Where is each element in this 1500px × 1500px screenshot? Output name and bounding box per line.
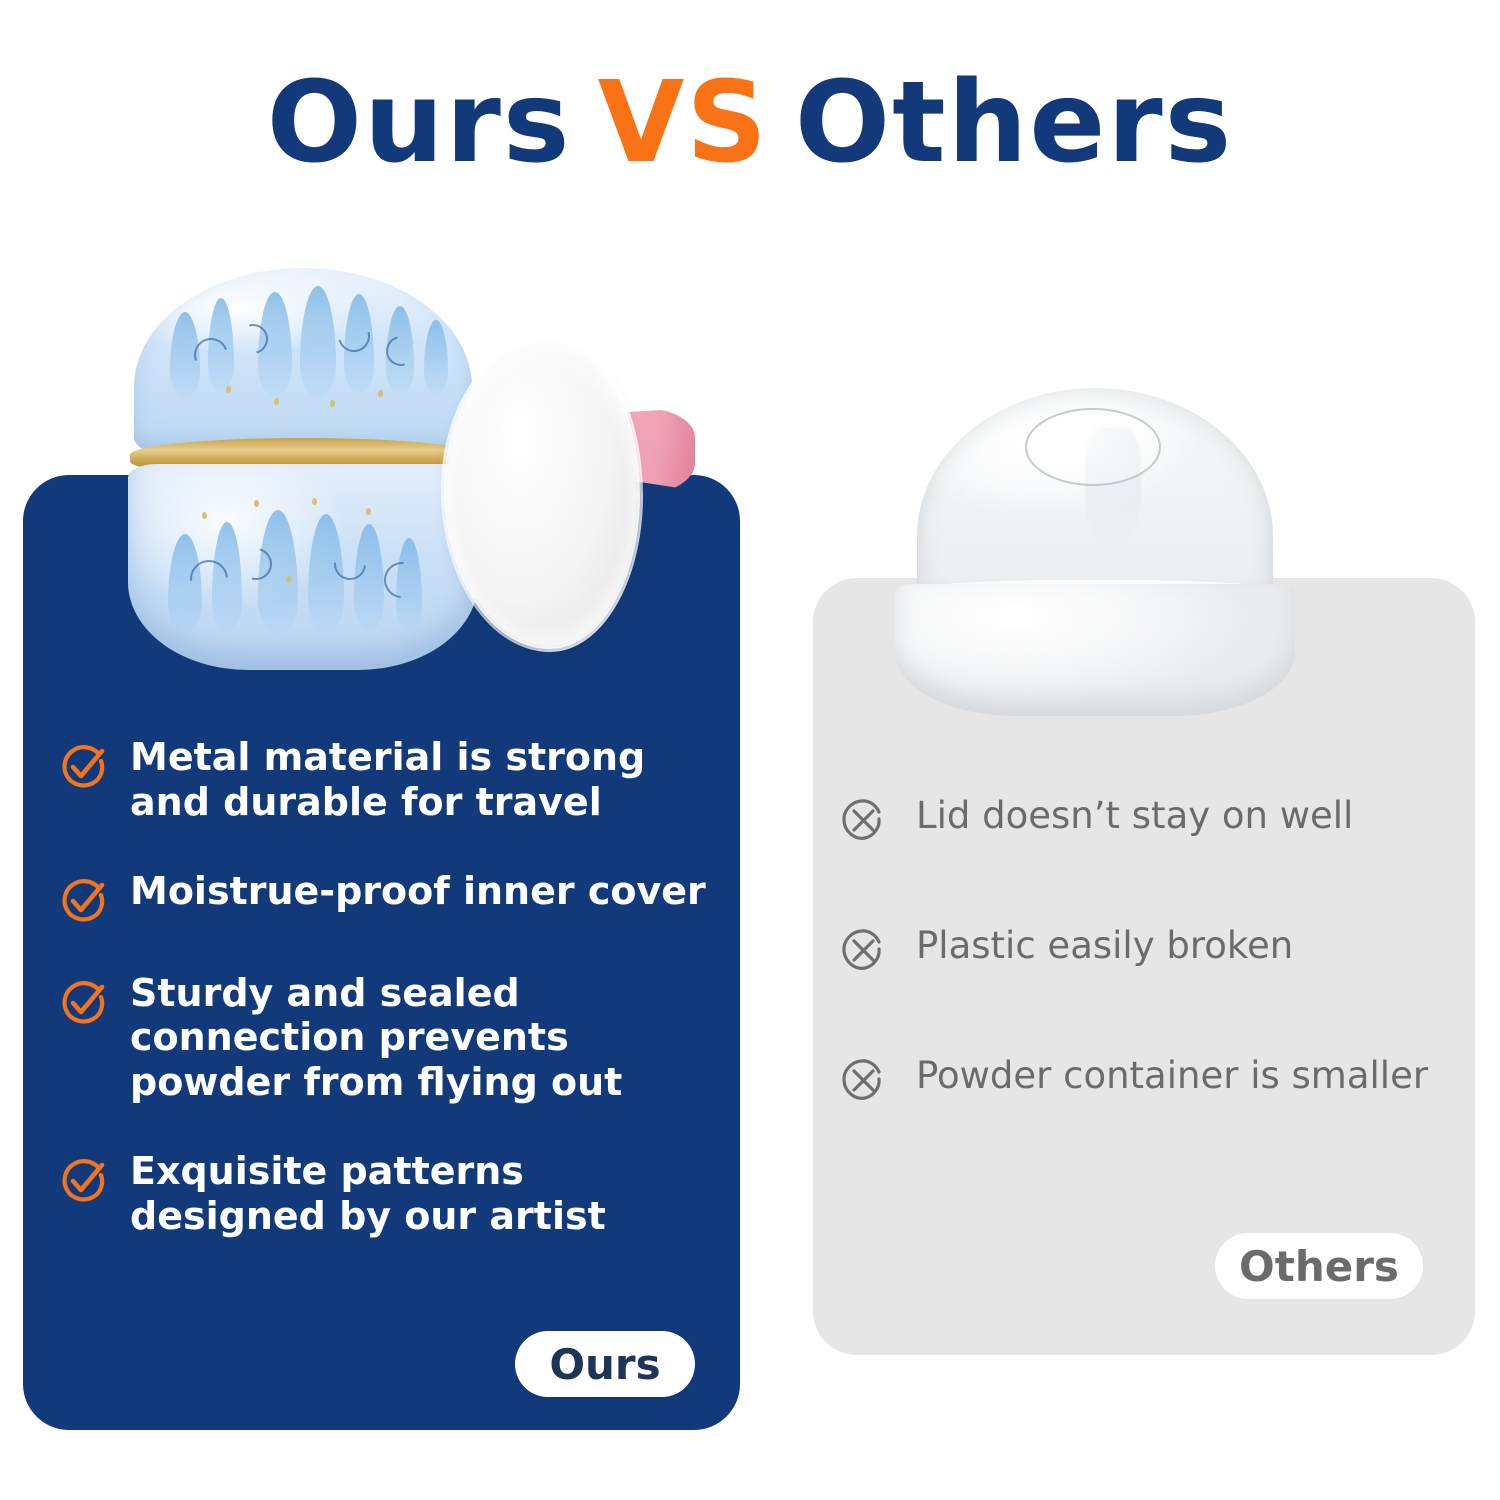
plastic-clear-dome-lid (917, 388, 1273, 602)
check-circle-icon (58, 1155, 110, 1207)
dome-top-ring (1025, 408, 1161, 486)
feature-text: Moistrue-proof inner cover (130, 869, 706, 914)
ours-badge: Ours (515, 1331, 695, 1397)
list-item: Exquisite patterns designed by our artis… (58, 1149, 728, 1239)
tin-lid (134, 268, 472, 453)
title-vs-word: VS (598, 58, 769, 188)
list-item: Lid doesn’t stay on well (838, 790, 1458, 848)
feature-text: Lid doesn’t stay on well (916, 790, 1353, 838)
feature-text: Sturdy and sealed connection prevents po… (130, 971, 728, 1105)
cross-circle-icon (838, 926, 890, 978)
check-circle-icon (58, 741, 110, 793)
tin-gold-band (130, 438, 476, 478)
cross-circle-icon (838, 796, 890, 848)
list-item: Metal material is strong and durable for… (58, 735, 728, 825)
list-item: Plastic easily broken (838, 920, 1458, 978)
dome-reflection (1085, 428, 1141, 546)
feature-text: Plastic easily broken (916, 920, 1293, 968)
feature-text: Powder container is smaller (916, 1050, 1428, 1098)
others-feature-list: Lid doesn’t stay on well Plastic easily … (838, 790, 1458, 1108)
list-item: Powder container is smaller (838, 1050, 1458, 1108)
feature-text: Exquisite patterns designed by our artis… (130, 1149, 728, 1239)
others-badge: Others (1215, 1233, 1423, 1299)
title-others-word: Others (795, 58, 1233, 188)
page-title: OursVSOthers (0, 62, 1500, 185)
list-item: Moistrue-proof inner cover (58, 869, 728, 927)
ours-feature-list: Metal material is strong and durable for… (58, 735, 728, 1239)
feature-text: Metal material is strong and durable for… (130, 735, 728, 825)
cross-circle-icon (838, 1056, 890, 1108)
list-item: Sturdy and sealed connection prevents po… (58, 971, 728, 1105)
check-circle-icon (58, 875, 110, 927)
title-ours-word: Ours (267, 58, 572, 188)
check-circle-icon (58, 977, 110, 1029)
